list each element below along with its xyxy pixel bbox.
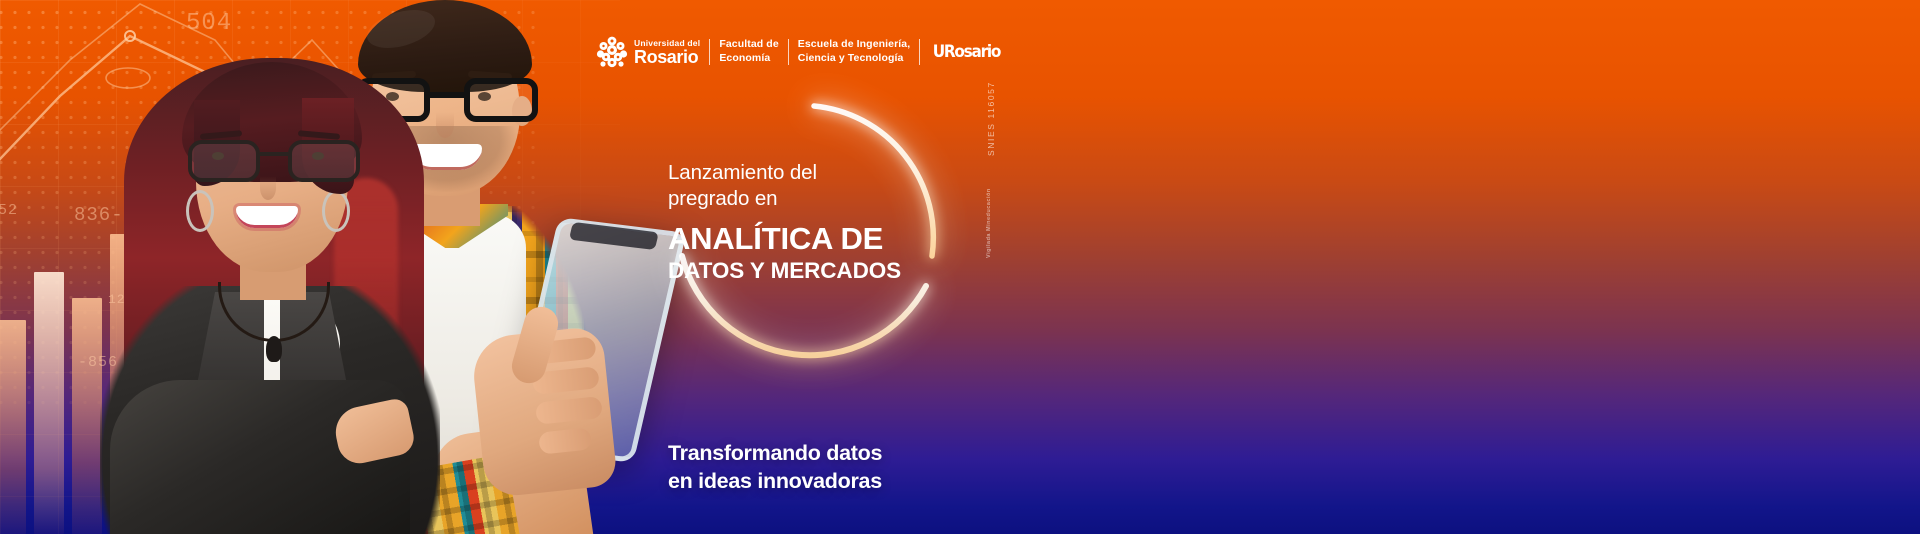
faculty-line-2: Economía xyxy=(719,52,778,66)
hoop-earring xyxy=(186,190,214,232)
headline-sub: DATOS Y MERCADOS xyxy=(668,259,998,284)
hoop-earring xyxy=(322,190,350,232)
faculty-block: Facultad de Economía xyxy=(719,35,778,69)
university-name: Rosario xyxy=(634,48,700,66)
headline-kicker-line-1: Lanzamiento del xyxy=(668,160,998,186)
promo-banner: 504 836-15 12 12c -856 52 xyxy=(0,0,1920,534)
institution-logo-row: Universidad del Rosario Facultad de Econ… xyxy=(596,34,1004,70)
divider xyxy=(788,39,789,65)
students-photo xyxy=(0,0,720,534)
snies-code: SNIES 116057 xyxy=(986,156,1061,166)
school-line-1: Escuela de Ingeniería, xyxy=(798,38,911,52)
snies-code-text: SNIES 116057 xyxy=(986,81,996,156)
school-line-2: Ciencia y Tecnología xyxy=(798,52,911,66)
eyeglasses xyxy=(188,140,360,182)
pendant xyxy=(266,336,282,362)
university-name-block: Universidad del Rosario xyxy=(634,35,700,69)
female-student xyxy=(100,0,440,534)
urosario-wordmark: URosario xyxy=(933,42,1000,62)
faculty-line-1: Facultad de xyxy=(719,38,778,52)
headline-main: ANALÍTICA DE xyxy=(668,223,998,256)
tagline-line-2: en ideas innovadoras xyxy=(668,468,998,496)
tagline-line-1: Transformando datos xyxy=(668,440,998,468)
vigilada-text: Vigilada Mineducación xyxy=(986,188,992,258)
school-block: Escuela de Ingeniería, Ciencia y Tecnolo… xyxy=(798,35,911,69)
divider xyxy=(919,39,920,65)
vigilada-mineducacion: Vigilada Mineducación xyxy=(986,258,1056,264)
headline-block: Lanzamiento del pregrado en ANALÍTICA DE… xyxy=(668,160,998,284)
headline-kicker-line-2: pregrado en xyxy=(668,186,998,212)
rosario-crest-icon xyxy=(596,35,628,69)
smile xyxy=(236,206,298,228)
tagline-block: Transformando datos en ideas innovadoras xyxy=(668,440,998,495)
divider xyxy=(709,39,710,65)
